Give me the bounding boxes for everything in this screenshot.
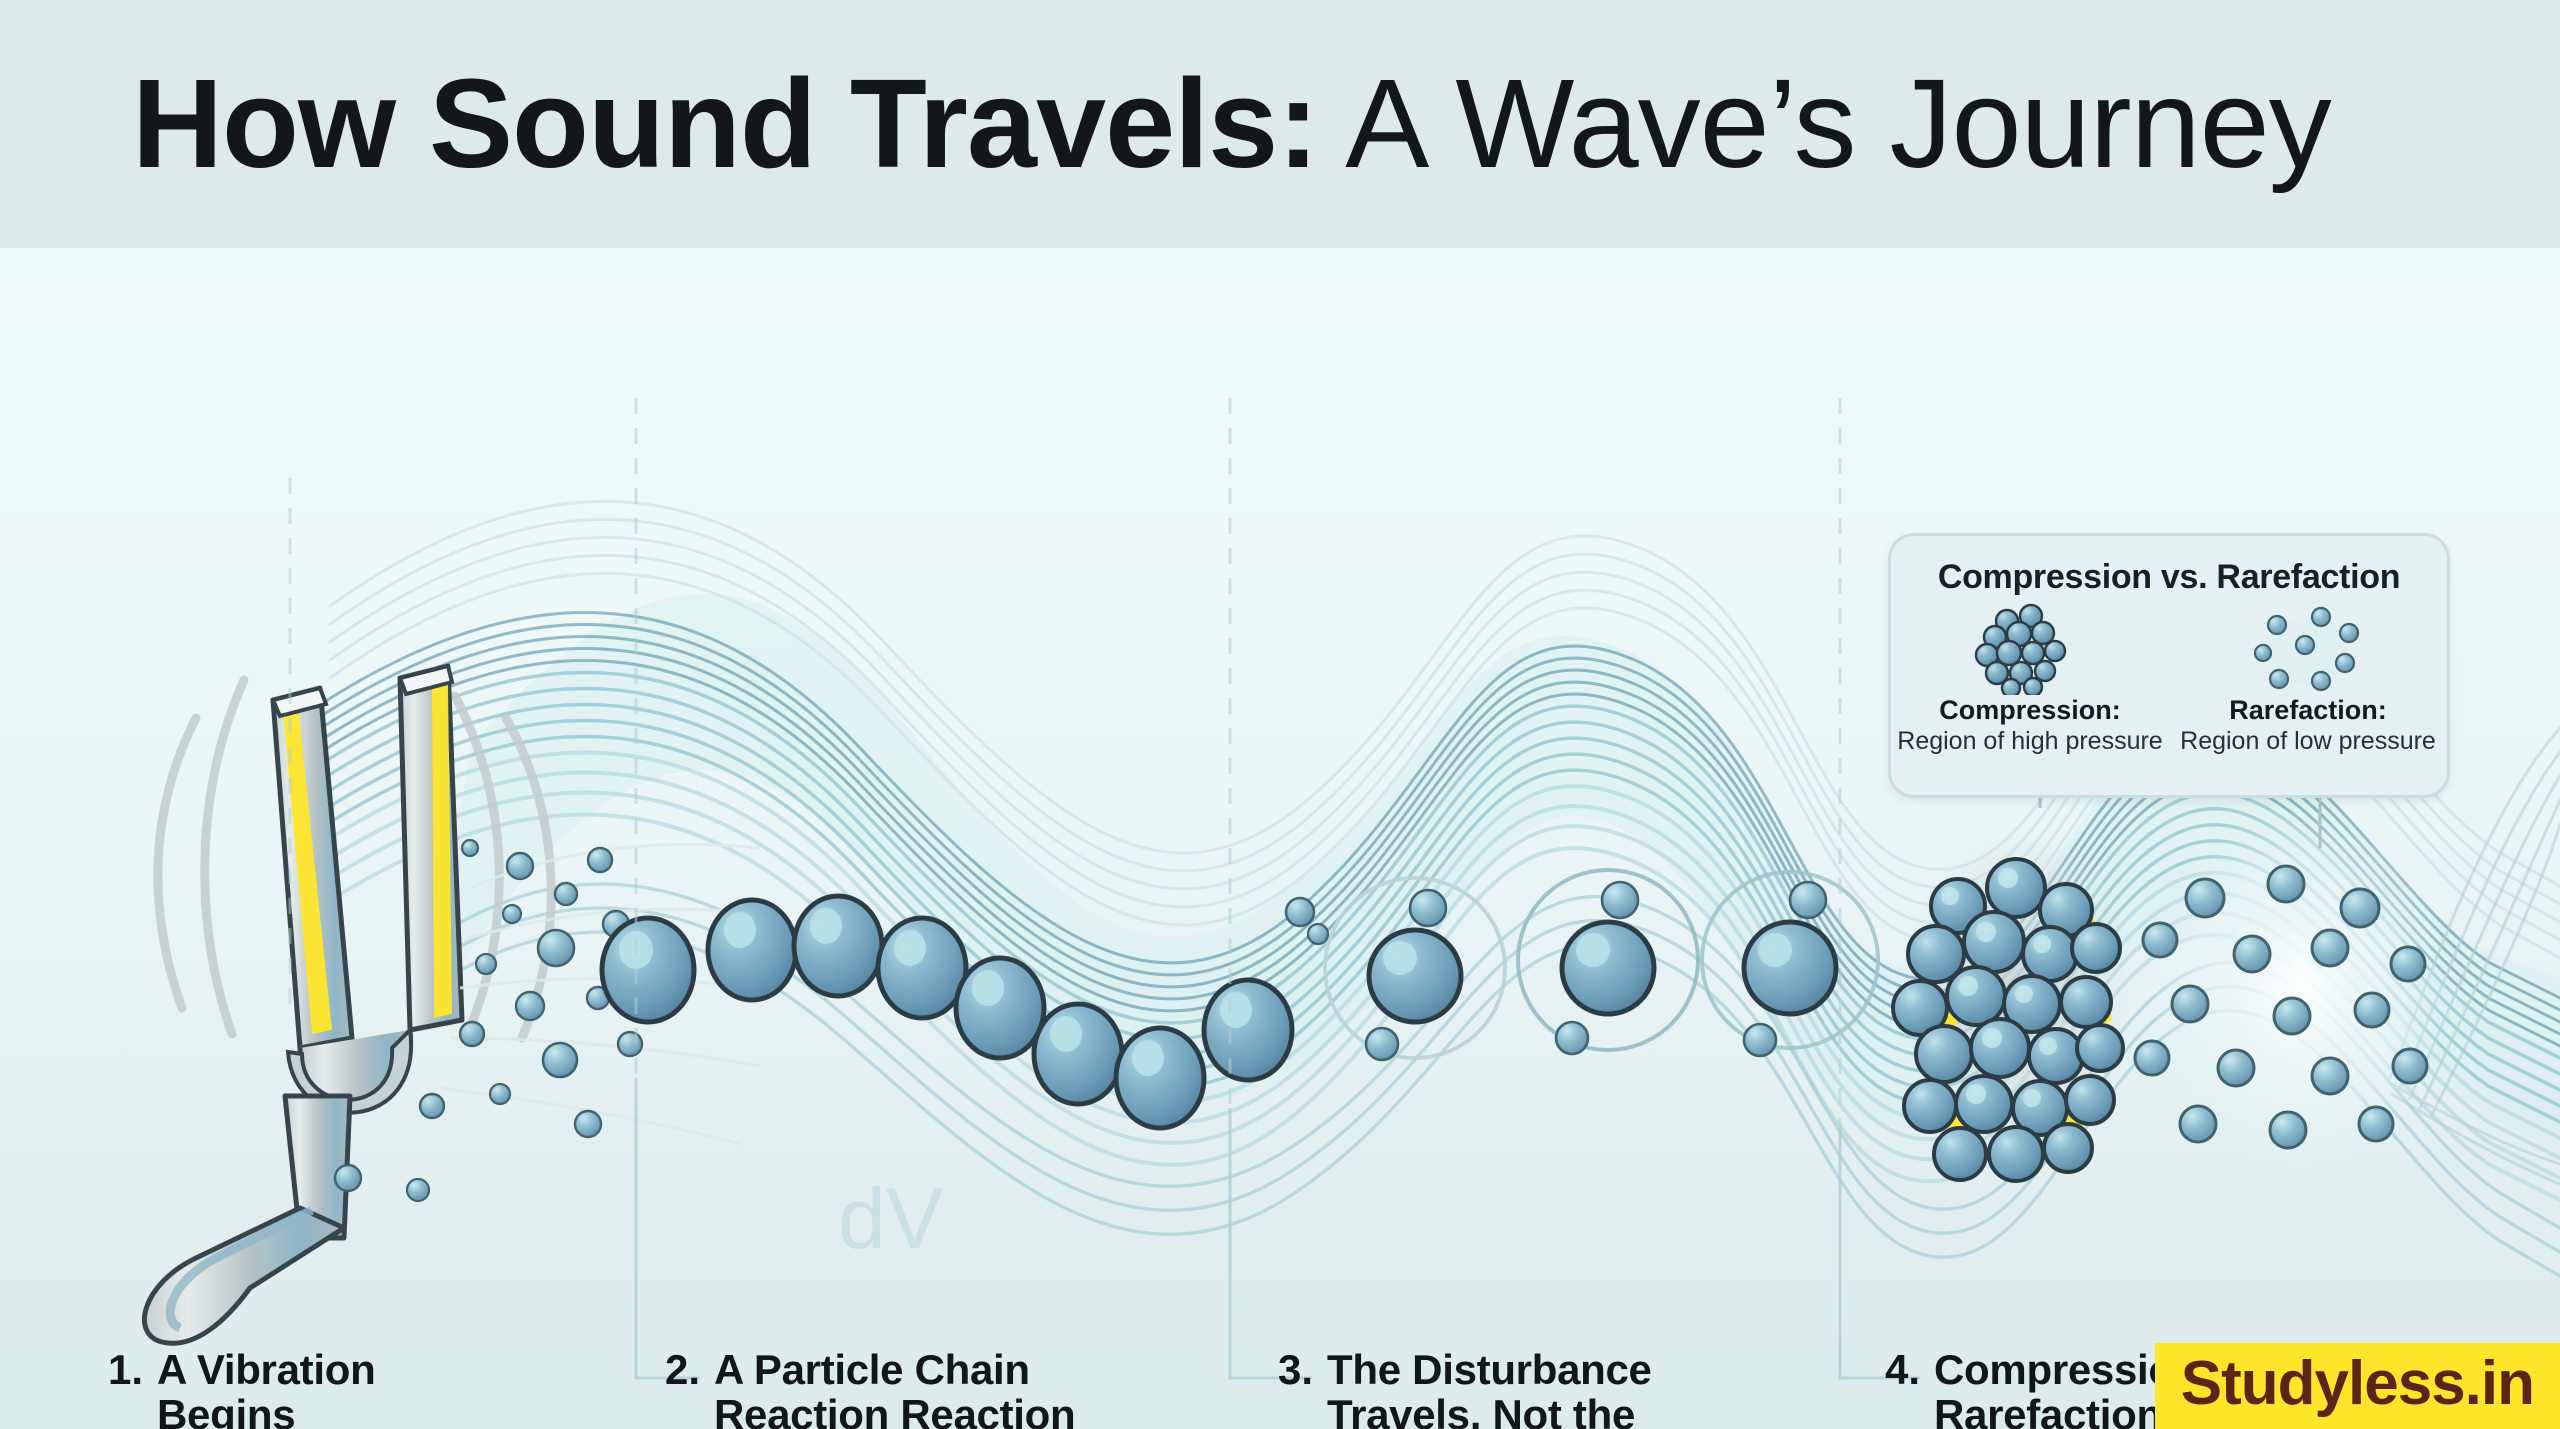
watermark-text: Studyless.in: [2181, 1353, 2534, 1415]
legend-rarefaction-heading: Rarefaction:: [2169, 695, 2447, 726]
page-title-bold: How Sound Travels:: [132, 53, 1318, 194]
header-band: How Sound Travels: A Wave’s Journey: [0, 0, 2560, 248]
step-1-title: A Vibration Begins: [157, 1348, 438, 1429]
legend-callout: Compression vs. Rarefaction: [1888, 533, 2450, 798]
step-3-number: 3.: [1278, 1348, 1313, 1393]
compression-zone-icon: [1893, 823, 2133, 1181]
step-4-number: 4.: [1885, 1348, 1920, 1393]
legend-compression-column: Compression: Region of high pressure: [1891, 603, 2169, 756]
step-1: 1. A Vibration Begins An object vibrates…: [108, 1348, 438, 1429]
step-2-title: A Particle Chain Reaction Reaction: [714, 1348, 1165, 1429]
step-2-number: 2.: [665, 1348, 700, 1393]
page-title-light: A Wave’s Journey: [1318, 53, 2331, 194]
step-1-number: 1.: [108, 1348, 143, 1393]
legend-compression-description: Region of high pressure: [1891, 727, 2169, 756]
page-title: How Sound Travels: A Wave’s Journey: [132, 61, 2331, 187]
legend-rarefaction-column: Rarefaction: Region of low pressure: [2169, 603, 2447, 756]
legend-title: Compression vs. Rarefaction: [1891, 558, 2447, 597]
watermark-badge: Studyless.in: [2155, 1343, 2560, 1429]
decorative-scribble-icon: dV: [838, 1171, 943, 1267]
step-3-title: The Disturbance Travels, Not the Particl…: [1327, 1348, 1748, 1429]
step-3: 3. The Disturbance Travels, Not the Part…: [1278, 1348, 1748, 1429]
sound-wave-illustration: dV: [0, 248, 2560, 1429]
sparse-particle-cluster-icon: [2169, 603, 2447, 695]
infographic-page: How Sound Travels: A Wave’s Journey: [0, 0, 2560, 1429]
illustration-stage: dV Compression vs. Rarefaction: [0, 248, 2560, 1429]
legend-compression-heading: Compression:: [1891, 695, 2169, 726]
dense-particle-cluster-icon: [1891, 603, 2169, 695]
legend-rarefaction-description: Region of low pressure: [2169, 727, 2447, 756]
step-2: 2. A Particle Chain Reaction Reaction Ea…: [665, 1348, 1165, 1429]
emitted-particle-group: [335, 840, 780, 1201]
